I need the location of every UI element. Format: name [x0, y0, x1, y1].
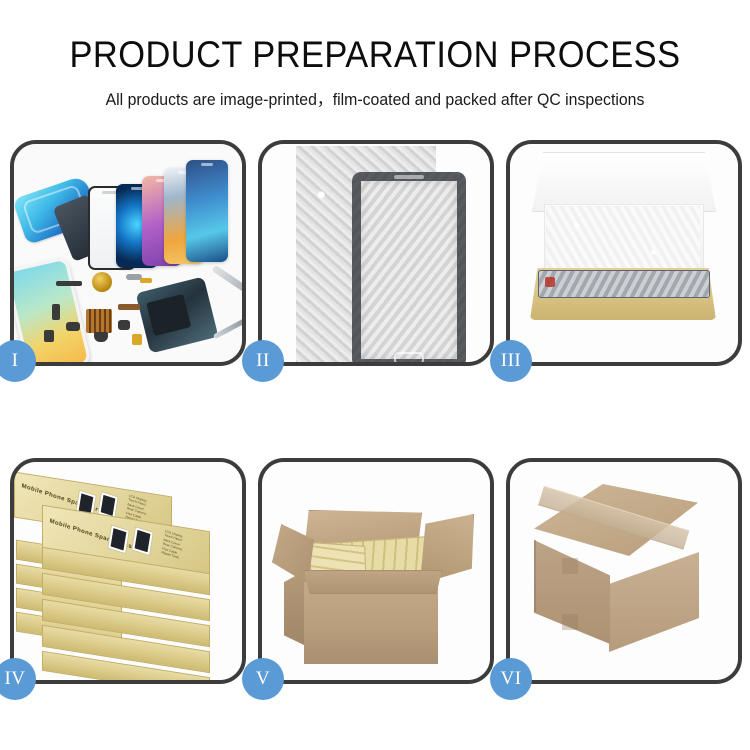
wrapped-screen-in-box	[538, 270, 710, 298]
disassembled-phone-body	[136, 276, 219, 353]
panel-image-clip-1	[14, 144, 242, 362]
antenna-flex-part	[118, 304, 140, 310]
panel-image-clip-6	[510, 462, 738, 680]
process-step-panel-3: III	[506, 140, 742, 366]
step-badge-3: III	[490, 340, 532, 382]
carton-flap-front	[304, 570, 442, 594]
bubble-wrap-sheet	[296, 146, 436, 362]
box-screen-thumbnail	[131, 526, 154, 556]
panel-image-clip-4: Mobile Phone Spare Parts LCD Display Tou…	[14, 462, 242, 680]
photo-bubble-wrapped-screen	[262, 144, 490, 362]
carton-side-panel	[284, 570, 306, 646]
panel-image-clip-3	[510, 144, 738, 362]
phone-display-teal	[186, 160, 228, 262]
photo-boxed-with-foam	[510, 144, 738, 362]
header: PRODUCT PREPARATION PROCESS All products…	[0, 0, 750, 110]
photo-open-shipping-carton	[262, 462, 490, 680]
notch-icon	[201, 163, 213, 166]
box-screen-thumbnail	[107, 524, 130, 554]
process-step-panel-6: VI	[506, 458, 742, 684]
retail-box-stack: Mobile Phone Spare Parts LCD Display Tou…	[14, 462, 242, 680]
sim-tray-part	[44, 330, 54, 342]
step-badge-1: I	[0, 340, 36, 382]
earpiece-slot-icon	[394, 175, 424, 179]
thumbnail-screen-icon	[111, 528, 127, 550]
step-badge-2: II	[242, 340, 284, 382]
camera-module-part	[66, 322, 80, 331]
step-badge-4: IV	[0, 658, 36, 700]
box-lid-open	[532, 152, 716, 212]
home-button-icon	[394, 352, 424, 362]
page-subtitle: All products are image-printed，film-coat…	[15, 76, 735, 110]
carton-front-panel	[304, 582, 438, 664]
photo-stacked-retail-boxes: Mobile Phone Spare Parts LCD Display Tou…	[14, 462, 242, 680]
chip-array-part	[86, 309, 112, 333]
photo-phone-screens-and-spare-parts	[14, 144, 242, 362]
taptic-engine-part	[94, 332, 108, 342]
carton-right-face	[609, 552, 699, 652]
screwdriver-tool	[212, 265, 242, 294]
process-step-panel-2: II	[258, 140, 494, 366]
screw-set-part	[132, 334, 142, 345]
speaker-mesh-part	[56, 281, 82, 286]
foam-padding-sheet	[546, 206, 700, 272]
process-step-panel-5: V	[258, 458, 494, 684]
gold-connector-part	[140, 278, 152, 283]
process-step-panel-1: I	[10, 140, 246, 366]
wrapped-screen-assembly	[352, 172, 466, 362]
thumbnail-screen-icon	[135, 530, 151, 552]
carton-handle-notch	[562, 558, 578, 574]
photo-sealed-shipping-carton	[510, 462, 738, 680]
step-badge-5: V	[242, 658, 284, 700]
carton-corner-seam	[534, 540, 536, 612]
thumbnail-screen-icon	[101, 495, 116, 516]
infographic-page: PRODUCT PREPARATION PROCESS All products…	[0, 0, 750, 750]
page-title: PRODUCT PREPARATION PROCESS	[26, 0, 724, 76]
step-badge-6: VI	[490, 658, 532, 700]
panel-image-clip-5	[262, 462, 490, 680]
process-step-grid: I II	[10, 140, 742, 685]
vibration-motor-part	[92, 272, 112, 292]
box-checklist: LCD Display Touch Panel Back Cover Rear …	[161, 529, 195, 564]
panel-image-clip-2	[262, 144, 490, 362]
carton-handle-notch	[562, 614, 578, 630]
button-flex-part	[52, 304, 60, 320]
process-step-panel-4: Mobile Phone Spare Parts LCD Display Tou…	[10, 458, 246, 684]
earpiece-part	[118, 320, 130, 330]
tweezers-tool	[213, 318, 242, 339]
